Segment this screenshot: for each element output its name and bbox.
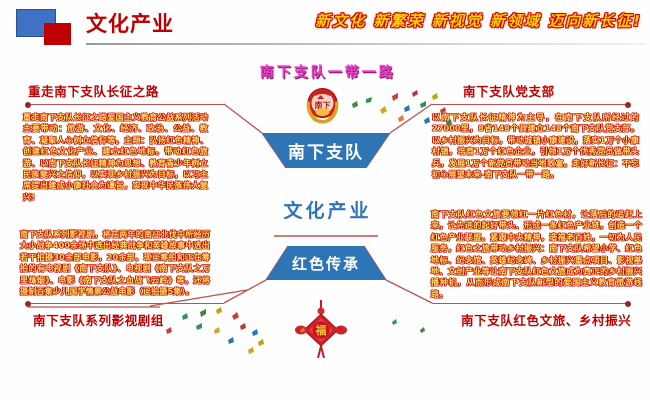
confetti-decoration (0, 0, 650, 400)
